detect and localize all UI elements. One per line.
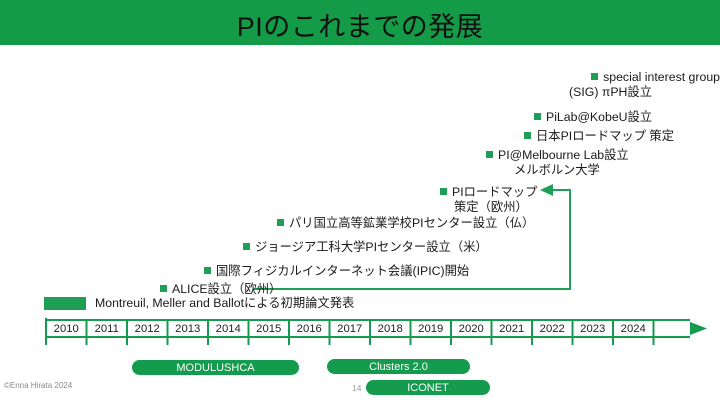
milestone-label: special interest group — [603, 70, 720, 84]
milestone-label: ジョージア工科大学PIセンター設立（米） — [255, 240, 488, 254]
milestone-japan-pi-roadmap: 日本PIロードマップ 策定 — [524, 129, 674, 144]
year-label: 2021 — [492, 320, 533, 337]
bullet-square-icon — [440, 188, 447, 195]
year-label: 2014 — [208, 320, 249, 337]
bullet-square-icon — [591, 73, 598, 80]
bullet-square-icon — [534, 113, 541, 120]
page-number: 14 — [352, 383, 361, 393]
bullet-square-icon — [277, 219, 284, 226]
early-paper-text: Montreuil, Meller and Ballotによる初期論文発表 — [95, 296, 354, 310]
project-bar-label: MODULUSHCA — [176, 362, 254, 374]
project-bar-modulushca: MODULUSHCA — [132, 360, 299, 375]
milestone-pi-roadmap-eu: PIロードマップ 策定（欧州） — [440, 185, 537, 214]
milestone-label: パリ国立高等鉱業学校PIセンター設立（仏） — [289, 216, 534, 230]
early-paper-label: Montreuil, Meller and Ballotによる初期論文発表 — [95, 296, 354, 311]
year-label: 2011 — [87, 320, 128, 337]
project-bar-iconet: ICONET — [366, 380, 490, 395]
bullet-square-icon — [524, 132, 531, 139]
project-bar-label: Clusters 2.0 — [369, 361, 428, 373]
year-label: 2012 — [127, 320, 168, 337]
milestone-label: ALICE設立（欧州） — [172, 282, 281, 296]
milestone-paris-mines-pi-center: パリ国立高等鉱業学校PIセンター設立（仏） — [277, 216, 534, 231]
milestone-sig-piph: special interest group (SIG) πPH設立 — [468, 70, 720, 99]
milestone-label: PI@Melbourne Lab設立 — [498, 148, 629, 162]
bullet-square-icon — [243, 243, 250, 250]
milestone-alice-eu: ALICE設立（欧州） — [160, 282, 281, 297]
year-label: 2019 — [411, 320, 452, 337]
copyright-notice: ©Enna Hirata 2024 — [4, 381, 72, 390]
milestone-label: PIロードマップ — [452, 185, 537, 199]
bullet-square-icon — [160, 285, 167, 292]
milestone-georgia-tech-pi-center: ジョージア工科大学PIセンター設立（米） — [243, 240, 488, 255]
timeline-year-labels: 2010 2011 2012 2013 2014 2015 2016 2017 … — [46, 320, 654, 337]
milestone-label: 日本PIロードマップ 策定 — [536, 129, 674, 143]
project-bar-label: ICONET — [407, 382, 449, 394]
year-label: 2018 — [370, 320, 411, 337]
early-paper-block — [44, 297, 86, 310]
year-label: 2015 — [249, 320, 290, 337]
year-label: 2017 — [330, 320, 371, 337]
bullet-square-icon — [204, 267, 211, 274]
milestone-pi-melbourne-lab: PI@Melbourne Lab設立 メルボルン大学 — [486, 148, 629, 177]
year-label: 2022 — [532, 320, 573, 337]
milestone-label: 国際フィジカルインターネット会議(IPIC)開始 — [216, 264, 469, 278]
year-label: 2010 — [46, 320, 87, 337]
year-label: 2016 — [289, 320, 330, 337]
milestone-pilab-kobeu: PiLab@KobeU設立 — [534, 110, 652, 125]
bullet-square-icon — [486, 151, 493, 158]
year-label: 2020 — [451, 320, 492, 337]
milestone-ipic-start: 国際フィジカルインターネット会議(IPIC)開始 — [204, 264, 469, 279]
year-label: 2013 — [168, 320, 209, 337]
year-label: 2024 — [613, 320, 654, 337]
milestone-sublabel: 策定（欧州） — [440, 200, 537, 215]
milestone-sublabel: メルボルン大学 — [486, 163, 629, 178]
project-bar-clusters-2-0: Clusters 2.0 — [327, 359, 470, 374]
year-label: 2023 — [573, 320, 614, 337]
milestone-label: PiLab@KobeU設立 — [546, 110, 652, 124]
milestone-sublabel: (SIG) πPH設立 — [468, 85, 720, 100]
